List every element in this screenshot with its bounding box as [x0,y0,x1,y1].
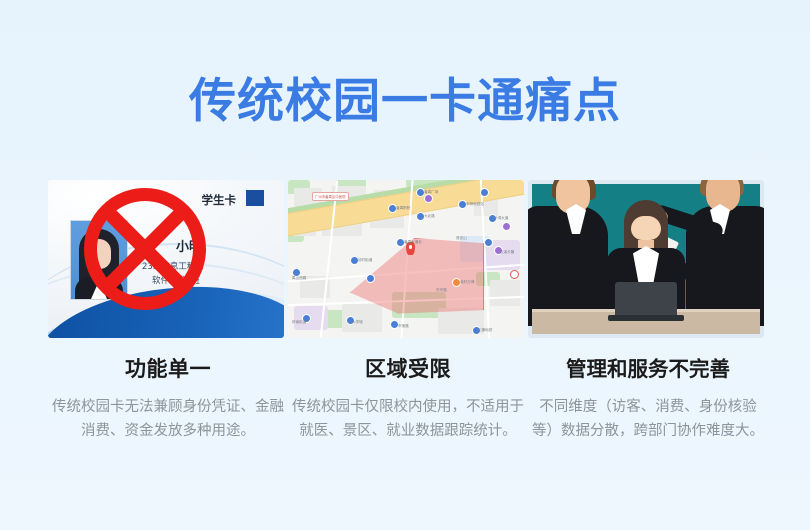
map-poi-9[interactable] [484,238,493,247]
poster-root: 传统校园一卡通痛点 学生卡 小明 2 [0,0,810,530]
card-title-1: 功能单一 [48,356,288,382]
map-label-12: 桥南街道 [292,320,306,325]
pain-point-card-3: 管理和服务不完善 不同维度（访客、消费、身份核验等）数据分散，跨部门协作难度大。 [528,180,768,443]
map-label-7: 莲花山 [456,236,467,241]
student-card-label: 学生卡 [202,192,237,208]
map-label-5: 沙湾大道 [494,216,508,221]
red-cross-prohibition-icon [84,188,206,310]
map-bubble-label: 广州市番禺区中医院 [312,192,349,201]
card-body-3: 不同维度（访客、消费、身份核验等）数据分散，跨部门协作难度大。 [528,395,768,443]
card-body-1: 传统校园卡无法兼顾身份凭证、金融消费、资金发放多种用途。 [48,395,288,443]
pain-point-card-1: 学生卡 小明 23级信息工程系 软件技术2班 [48,180,288,443]
map-label-13: 大学城 [352,320,363,325]
pain-point-card-row: 学生卡 小明 23级信息工程系 软件技术2班 [0,180,810,500]
campus-map-thumbnail: 广州市番禺区中医院 番禺广场 市桥地铁站 番禺职院 大北路 沙湾大道 番禺大道北… [288,180,524,338]
map-label-14: 市莲路 [398,324,409,329]
laptop [615,282,677,316]
map-label-11: 禺山西路 [292,276,306,281]
map-label-1: 番禺广场 [424,190,438,195]
student-card-thumbnail: 学生卡 小明 23级信息工程系 软件技术2班 [48,180,284,338]
map-poi-14[interactable] [510,270,519,279]
card-body-2: 传统校园卡仅限校内使用，不适用于就医、景区、就业数据跟踪统计。 [288,395,528,443]
office-illustration-thumbnail [528,180,764,338]
map-label-15: 石碁地铁 [478,328,492,333]
map-label-3: 番禺职院 [396,206,410,211]
map-poi-2[interactable] [424,194,433,203]
map-label-9: 东环路 [436,288,447,293]
page-title: 传统校园一卡通痛点 [0,76,810,128]
map-poi-4[interactable] [480,188,489,197]
map-label-6: 番禺大道北 [404,240,422,245]
pain-point-card-2: 广州市番禺区中医院 番禺广场 市桥地铁站 番禺职院 大北路 沙湾大道 番禺大道北… [288,180,528,443]
campus-boundary-map: 广州市番禺区中医院 番禺广场 市桥地铁站 番禺职院 大北路 沙湾大道 番禺大道北… [288,180,524,338]
map-label-10: 南村万博 [460,280,474,285]
map-block-9 [490,280,520,306]
student-card-illustration: 学生卡 小明 23级信息工程系 软件技术2班 [48,180,284,338]
map-poi-10[interactable] [502,222,511,231]
map-label-4: 大北路 [424,214,435,219]
map-label-8: 钟村街道 [358,258,372,263]
map-label-2: 市桥地铁站 [466,202,484,207]
map-poi-12[interactable] [366,274,375,283]
card-title-2: 区域受限 [288,356,528,382]
card-title-3: 管理和服务不完善 [528,356,768,382]
overloaded-administrator-illustration [528,180,764,338]
card-logo-square [246,190,264,206]
map-label-16: 汉溪长隆 [500,250,514,255]
